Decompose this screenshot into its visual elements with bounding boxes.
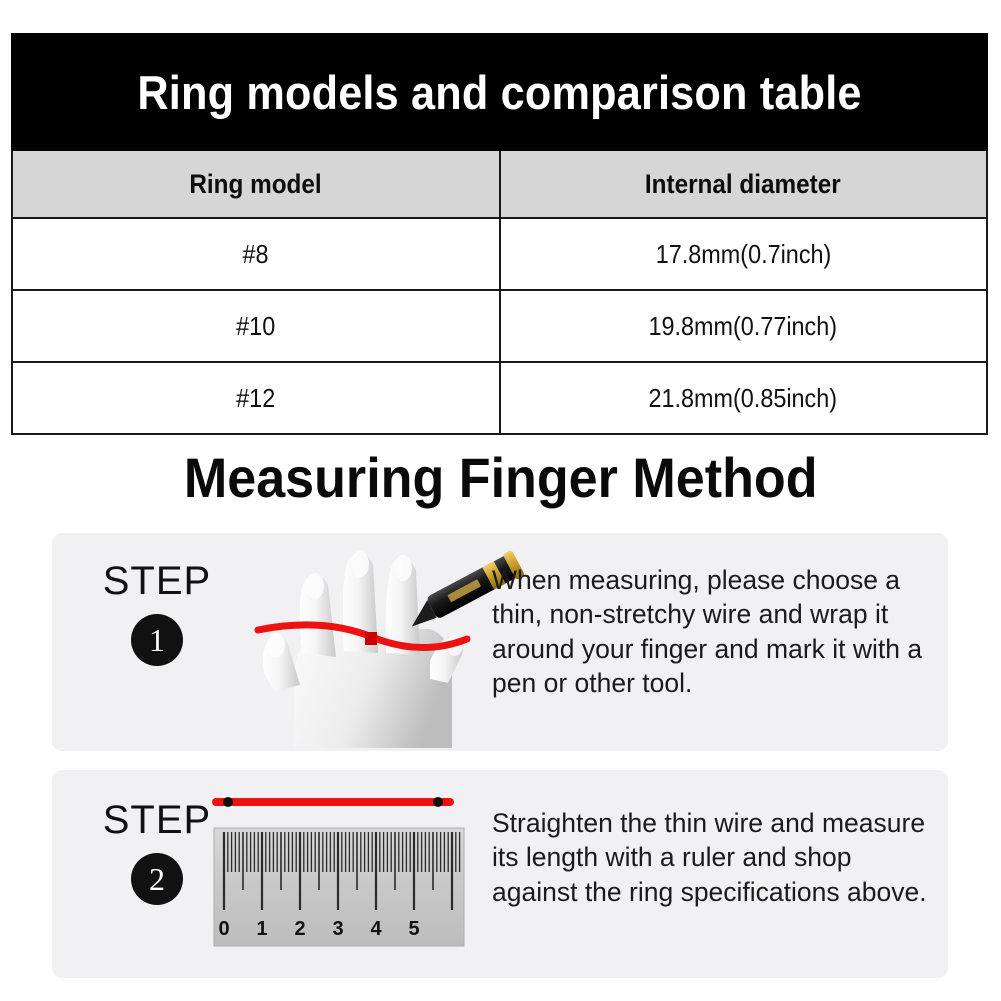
step-1-description: When measuring, please choose a thin, no… <box>492 563 932 701</box>
table-row: #12 21.8mm(0.85inch) <box>12 362 987 434</box>
method-section-heading: Measuring Finger Method <box>0 445 1001 510</box>
ruler-tick-label: 0 <box>218 918 229 940</box>
table-row: #10 19.8mm(0.77inch) <box>12 290 987 362</box>
cell-internal-diameter: 17.8mm(0.7inch) <box>500 218 988 290</box>
cell-internal-diameter: 19.8mm(0.77inch) <box>500 290 988 362</box>
step-1-number-badge: 1 <box>131 614 183 666</box>
table-row: #8 17.8mm(0.7inch) <box>12 218 987 290</box>
ruler-tick-label: 2 <box>294 918 305 940</box>
table-header-row: Ring model Internal diameter <box>12 150 987 218</box>
table-title: Ring models and comparison table <box>52 65 947 120</box>
ruler-tick-label: 1 <box>256 918 267 940</box>
ring-spec-table: Ring models and comparison table Ring mo… <box>11 33 988 435</box>
column-header-internal-diameter: Internal diameter <box>500 150 988 218</box>
cell-ring-model: #12 <box>12 362 500 434</box>
nail <box>351 551 369 577</box>
wire-end-dot-left <box>223 797 233 807</box>
cell-ring-model: #8 <box>12 218 500 290</box>
straight-wire-over-ruler-image: 012345 <box>202 780 492 965</box>
nail <box>267 633 285 657</box>
step-2-description: Straighten the thin wire and measure its… <box>492 806 932 909</box>
step-panel-1: STEP 1 <box>52 533 948 751</box>
ruler-tick-label: 4 <box>370 918 382 940</box>
nail <box>394 555 412 581</box>
ruler-tick-label: 3 <box>332 918 343 940</box>
wire-end-dot-right <box>433 797 443 807</box>
table-title-cell: Ring models and comparison table <box>12 34 987 150</box>
table-title-row: Ring models and comparison table <box>12 34 987 150</box>
cell-internal-diameter: 21.8mm(0.85inch) <box>500 362 988 434</box>
wire-mark <box>365 632 377 645</box>
step-panel-2: STEP 2 012345 Straighten the thin wire a… <box>52 770 948 978</box>
nail <box>306 573 324 599</box>
ruler-tick-label: 5 <box>408 918 419 940</box>
column-header-ring-model: Ring model <box>12 150 500 218</box>
cell-ring-model: #10 <box>12 290 500 362</box>
step-1-label-group: STEP 1 <box>82 561 232 666</box>
step-1-word: STEP <box>82 561 232 601</box>
step-2-number-badge: 2 <box>131 853 183 905</box>
